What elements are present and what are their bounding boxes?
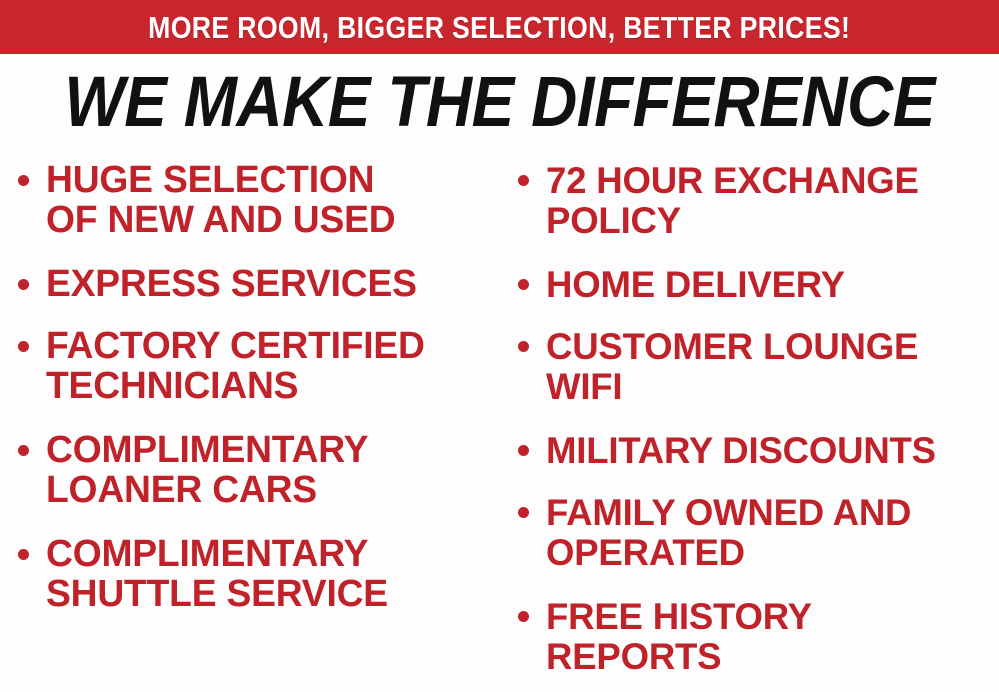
list-item-label: CUSTOMER LOUNGE WIFI	[546, 326, 918, 406]
list-item-label: COMPLIMENTARY LOANER CARS	[46, 430, 368, 510]
list-item: CUSTOMER LOUNGE WIFI	[518, 326, 999, 406]
benefits-column-right: 72 HOUR EXCHANGE POLICY HOME DELIVERY CU…	[518, 160, 999, 692]
advertisement-banner: MORE ROOM, BIGGER SELECTION, BETTER PRIC…	[0, 0, 999, 692]
benefits-columns: HUGE SELECTION OF NEW AND USED EXPRESS S…	[0, 160, 999, 692]
list-item: HUGE SELECTION OF NEW AND USED	[18, 160, 498, 240]
bullet-dot-icon	[18, 279, 29, 290]
bullet-dot-icon	[518, 611, 529, 622]
list-item-label: EXPRESS SERVICES	[46, 264, 417, 304]
list-item: FREE HISTORY REPORTS	[518, 596, 999, 676]
headline-container: WE MAKE THE DIFFERENCE	[0, 62, 999, 142]
bullet-dot-icon	[518, 507, 529, 518]
list-item: 72 HOUR EXCHANGE POLICY	[518, 160, 999, 240]
list-item: COMPLIMENTARY LOANER CARS	[18, 430, 498, 510]
list-item-label: HOME DELIVERY	[546, 264, 845, 304]
bullet-dot-icon	[18, 341, 29, 352]
list-item-label: FREE HISTORY REPORTS	[546, 596, 812, 676]
list-item: HOME DELIVERY	[518, 264, 999, 304]
benefits-column-left: HUGE SELECTION OF NEW AND USED EXPRESS S…	[18, 160, 498, 692]
list-item-label: MILITARY DISCOUNTS	[546, 430, 936, 470]
list-item: EXPRESS SERVICES	[18, 264, 498, 304]
bullet-dot-icon	[518, 341, 529, 352]
bullet-dot-icon	[518, 445, 529, 456]
list-item-label: FACTORY CERTIFIED TECHNICIANS	[46, 326, 425, 406]
list-item-label: FAMILY OWNED AND OPERATED	[546, 492, 911, 572]
list-item: COMPLIMENTARY SHUTTLE SERVICE	[18, 534, 498, 614]
page-title: WE MAKE THE DIFFERENCE	[64, 67, 935, 138]
bullet-dot-icon	[18, 175, 29, 186]
list-item: FAMILY OWNED AND OPERATED	[518, 492, 999, 572]
top-promo-banner-text: MORE ROOM, BIGGER SELECTION, BETTER PRIC…	[148, 12, 850, 43]
bullet-dot-icon	[518, 175, 529, 186]
bullet-dot-icon	[18, 445, 29, 456]
list-item-label: COMPLIMENTARY SHUTTLE SERVICE	[46, 534, 388, 614]
bullet-dot-icon	[518, 279, 529, 290]
list-item-label: HUGE SELECTION OF NEW AND USED	[46, 160, 395, 240]
list-item: MILITARY DISCOUNTS	[518, 430, 999, 470]
bullet-dot-icon	[18, 549, 29, 560]
list-item: FACTORY CERTIFIED TECHNICIANS	[18, 326, 498, 406]
top-promo-banner: MORE ROOM, BIGGER SELECTION, BETTER PRIC…	[0, 0, 999, 54]
list-item-label: 72 HOUR EXCHANGE POLICY	[546, 160, 919, 240]
